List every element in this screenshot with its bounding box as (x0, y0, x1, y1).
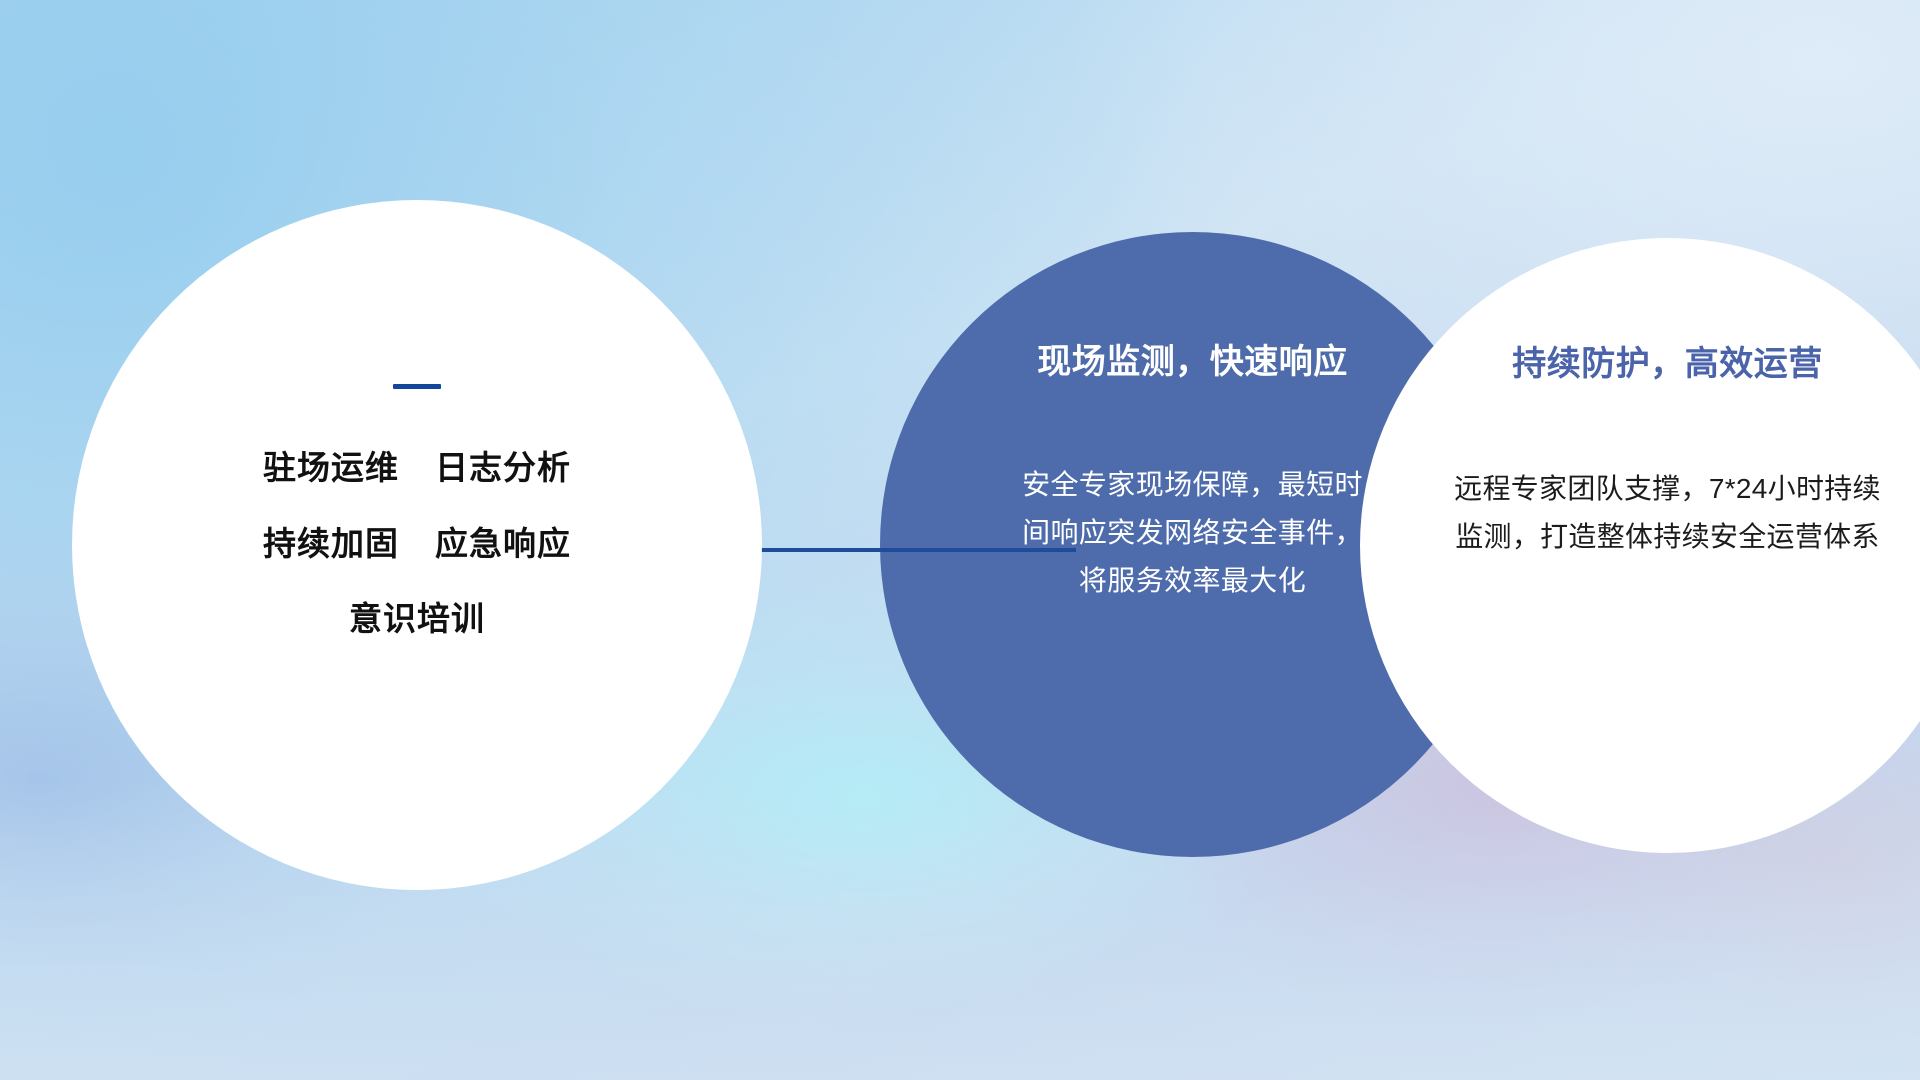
capability-item: 意识培训 (349, 596, 485, 642)
right-circle-body: 远程专家团队支撑，7*24小时持续监测，打造整体持续安全运营体系 (1453, 465, 1883, 561)
capability-item: 应急响应 (435, 521, 571, 567)
capability-row-2: 持续加固 应急响应 (263, 521, 571, 567)
right-circle-heading: 持续防护，高效运营 (1512, 336, 1823, 385)
left-circle-content: 驻场运维 日志分析 持续加固 应急响应 意识培训 (72, 200, 762, 890)
capability-item: 日志分析 (435, 445, 571, 491)
capability-row-3: 意识培训 (349, 596, 485, 642)
capability-row-1: 驻场运维 日志分析 (263, 445, 571, 491)
blue-divider-dash (393, 384, 441, 389)
capability-item: 驻场运维 (263, 445, 399, 491)
right-circle-content: 持续防护，高效运营 远程专家团队支撑，7*24小时持续监测，打造整体持续安全运营… (1360, 238, 1920, 853)
capability-item: 持续加固 (263, 521, 399, 567)
middle-circle-body: 安全专家现场保障，最短时间响应突发网络安全事件，将服务效率最大化 (1018, 461, 1368, 605)
middle-circle-heading: 现场监测，快速响应 (1037, 334, 1348, 383)
slide-canvas: 驻场运维 日志分析 持续加固 应急响应 意识培训 现场监测，快速响应 安全专家现… (0, 0, 1920, 1080)
